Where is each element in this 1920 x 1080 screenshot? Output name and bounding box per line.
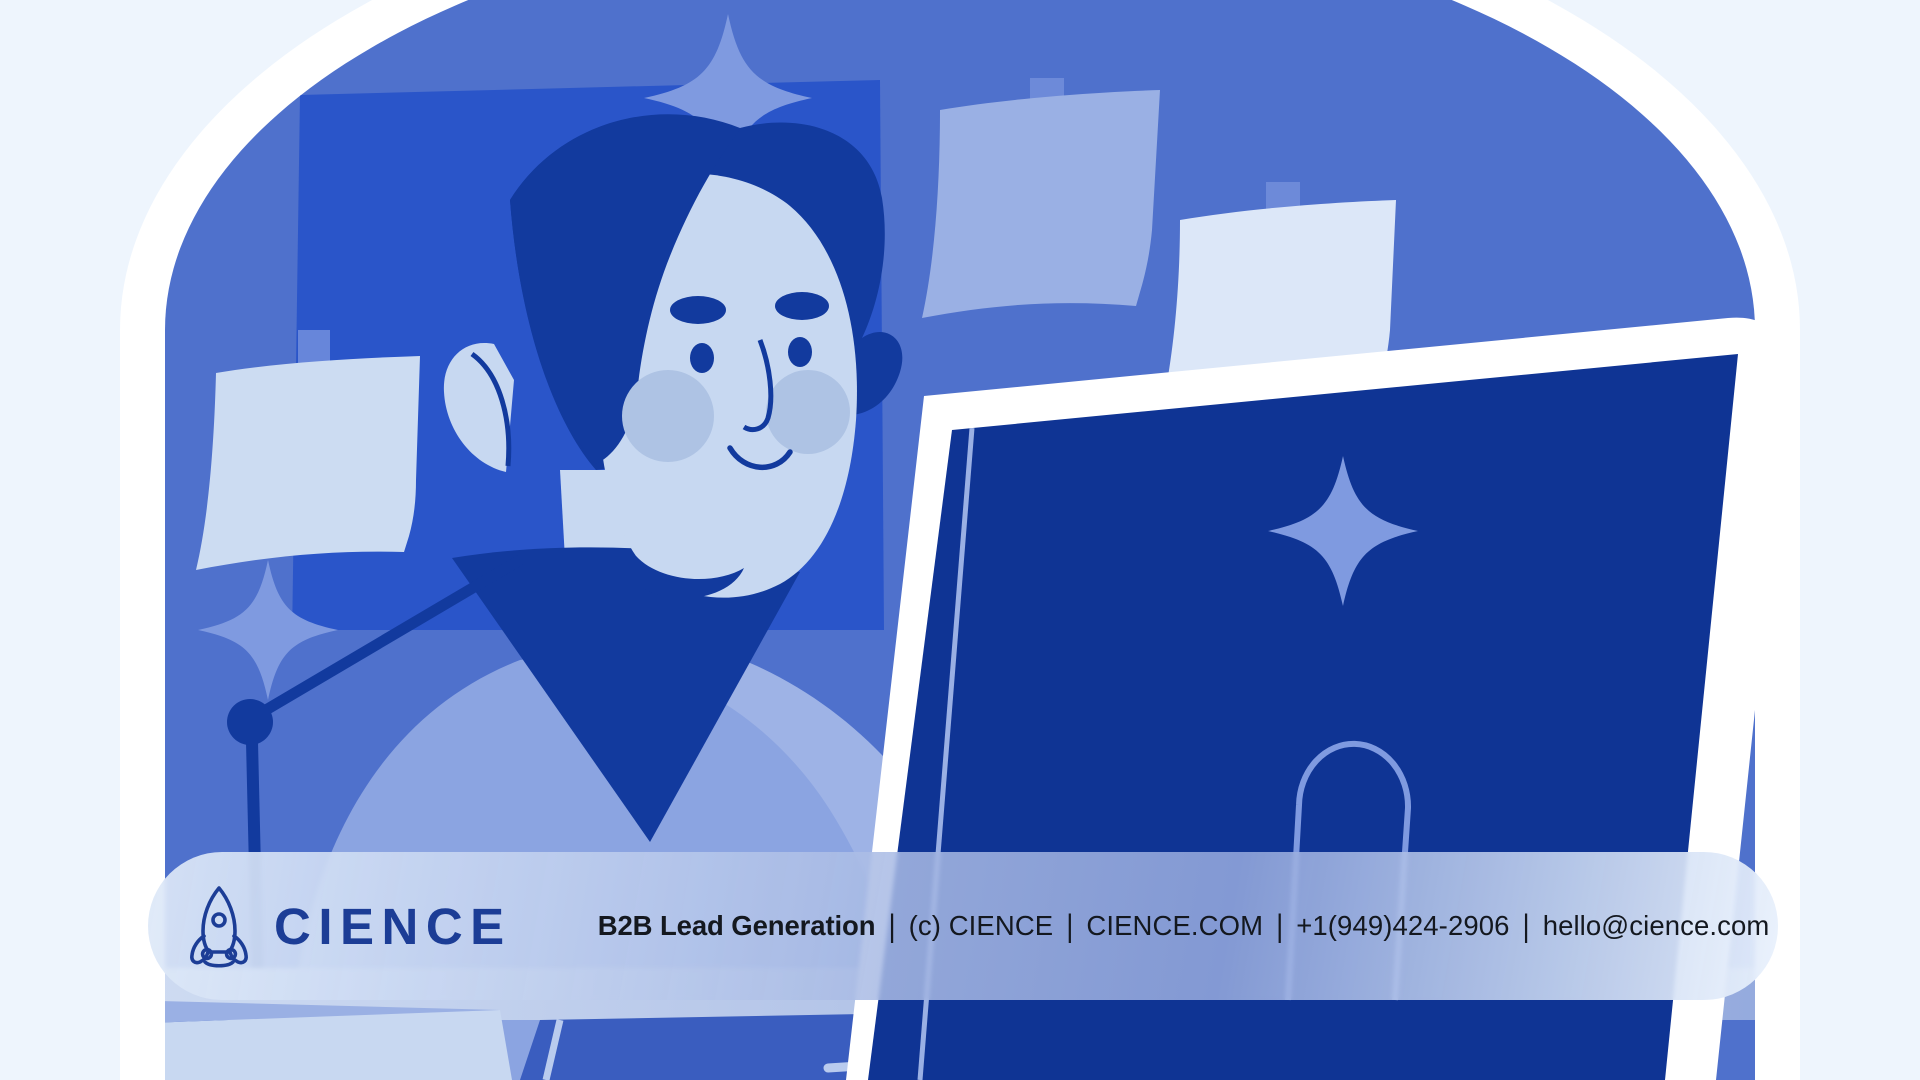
brand-footer-bar: CIENCE B2B Lead Generation | (c) CIENCE … (148, 852, 1778, 1000)
tagline-separator-1: | (888, 910, 895, 942)
cheek-right (766, 370, 850, 454)
note-left (196, 356, 420, 570)
tagline-headline: B2B Lead Generation (598, 912, 876, 940)
eyebrow-left (670, 296, 726, 324)
brand-logo-lockup: CIENCE (188, 884, 512, 968)
illustration-canvas: CIENCE B2B Lead Generation | (c) CIENCE … (0, 0, 1920, 1080)
tagline-website[interactable]: CIENCE.COM (1086, 912, 1263, 940)
brand-name: CIENCE (274, 901, 512, 952)
eye-left (690, 343, 714, 373)
note-center (922, 90, 1160, 318)
tagline-phone[interactable]: +1(949)424-2906 (1296, 912, 1509, 940)
mic-joint-dot (227, 699, 273, 745)
tagline-separator-2: | (1066, 910, 1073, 942)
tagline-email[interactable]: hello@cience.com (1543, 912, 1770, 940)
tagline-separator-4: | (1523, 910, 1530, 942)
cheek-left (622, 370, 714, 462)
tagline-copyright: (c) CIENCE (909, 912, 1054, 940)
tagline-separator-3: | (1276, 910, 1283, 942)
footer-tagline: B2B Lead Generation | (c) CIENCE | CIENC… (598, 912, 1770, 940)
eye-right (788, 337, 812, 367)
eyebrow-right (775, 292, 829, 320)
rocket-icon (188, 884, 250, 968)
